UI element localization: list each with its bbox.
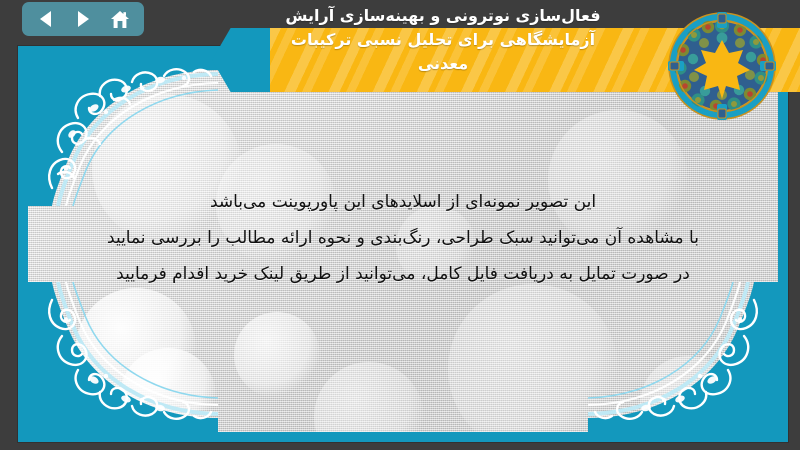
triangle-left-icon: [38, 10, 54, 28]
slide-stage: این تصویر نمونه‌ای از اسلایدهای این پاور…: [0, 0, 800, 450]
back-button[interactable]: [31, 6, 61, 32]
body-line-2: با مشاهده آن می‌توانید سبک طراحی، رنگ‌بن…: [68, 220, 738, 256]
triangle-right-icon: [75, 10, 91, 28]
body-line-3: در صورت تمایل به دریافت فایل کامل، می‌تو…: [68, 256, 738, 292]
title-line-1: فعال‌سازی نوترونی و بهینه‌سازی آرایش: [140, 4, 746, 28]
body-line-1: این تصویر نمونه‌ای از اسلایدهای این پاور…: [68, 184, 738, 220]
navigation-bar: [22, 2, 144, 36]
slide-body-text: این تصویر نمونه‌ای از اسلایدهای این پاور…: [68, 184, 738, 292]
forward-button[interactable]: [68, 6, 98, 32]
home-icon: [110, 10, 130, 29]
circular-persian-medallion-icon: [668, 12, 776, 120]
home-button[interactable]: [105, 6, 135, 32]
slide-canvas: این تصویر نمونه‌ای از اسلایدهای این پاور…: [28, 56, 778, 432]
